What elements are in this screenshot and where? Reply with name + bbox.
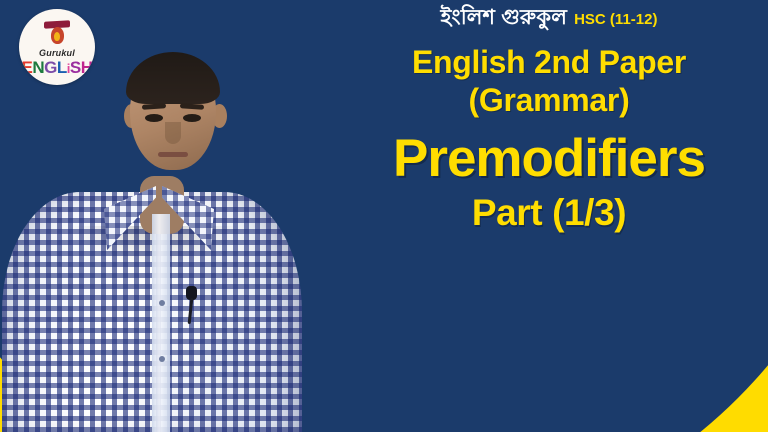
presenter-shirt-button [159, 356, 165, 362]
brand-name-bengali: ইংলিশ গুরুকুল [441, 7, 568, 28]
subject-line-2: (Grammar) [330, 82, 768, 120]
logo-brand-bottom: ENGLiSH [22, 59, 93, 76]
logo-decor-dot [19, 63, 25, 73]
presenter-eye-right [183, 114, 201, 122]
logo-letter: G [44, 58, 57, 77]
gurukul-english-logo[interactable]: Gurukul ENGLiSH [19, 9, 95, 85]
course-level-badge: HSC (11-12) [574, 12, 657, 27]
video-thumbnail: Gurukul ENGLiSH ইংলিশ গুরুকুল HSC (11-12… [0, 0, 768, 432]
part-label: Part (1/3) [330, 194, 768, 233]
presenter-nose [165, 122, 181, 144]
presenter-eye-left [145, 114, 163, 122]
presenter-hair [126, 52, 220, 104]
presenter-shirt-button [159, 300, 165, 306]
logo-letter: L [57, 58, 67, 77]
title-block: ইংলিশ গুরুকুল HSC (11-12) English 2nd Pa… [330, 0, 768, 232]
logo-letter: N [32, 58, 44, 77]
logo-letter: S [70, 58, 81, 77]
logo-brand-top: Gurukul [39, 48, 75, 58]
presenter-shirt-placket [152, 214, 170, 432]
subject-line-1: English 2nd Paper [412, 44, 686, 80]
presenter-mouth [158, 152, 188, 157]
graduation-cap-icon [42, 21, 72, 47]
topic-title: Premodifiers [330, 132, 768, 186]
subject-title: English 2nd Paper (Grammar) [330, 44, 768, 120]
brand-row: ইংলিশ গুরুকুল HSC (11-12) [330, 7, 768, 28]
lapel-microphone-icon [186, 286, 197, 300]
logo-letter: H [81, 58, 93, 77]
